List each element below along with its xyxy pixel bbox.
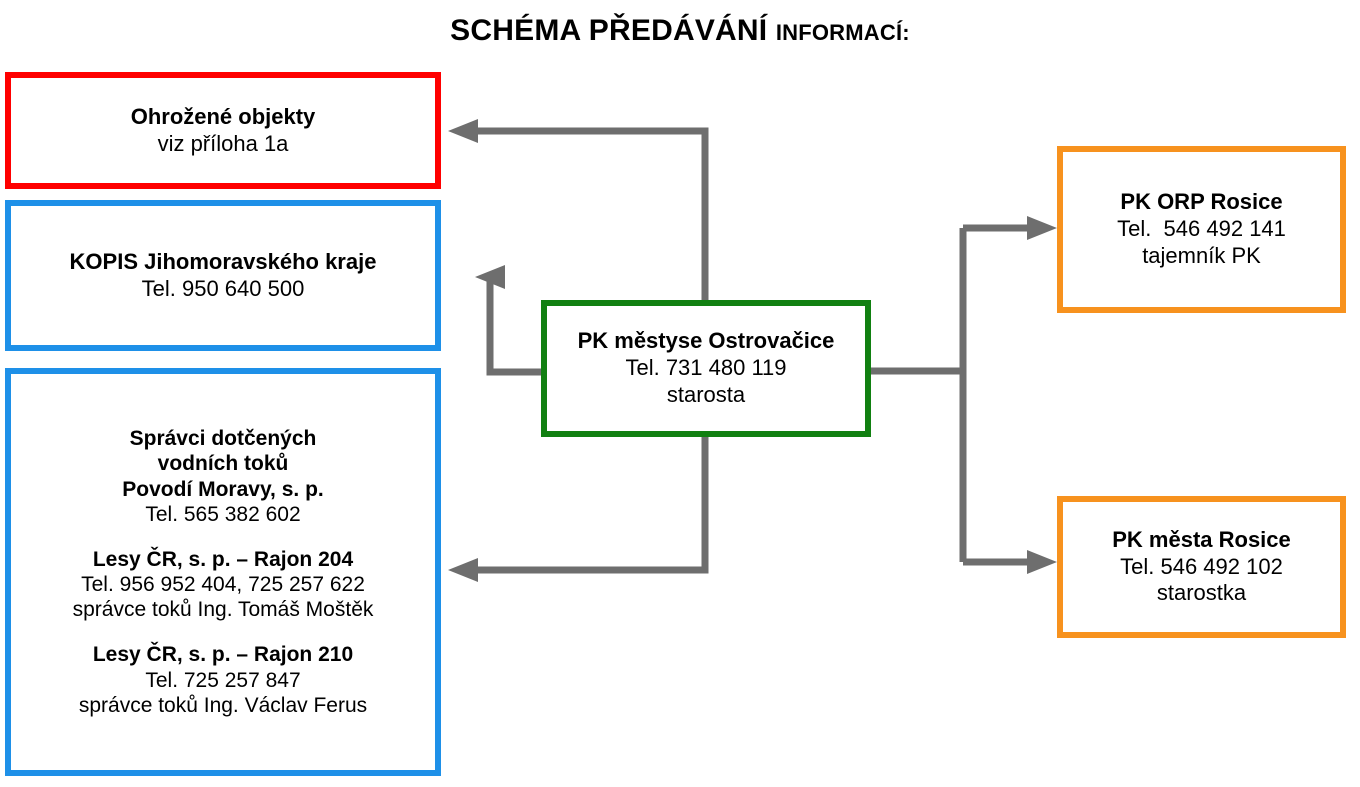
node-line: PK městyse Ostrovačice — [578, 328, 835, 355]
node-pk-orp-rosice[interactable]: PK ORP Rosice Tel. 546 492 141 tajemník … — [1057, 146, 1346, 313]
node-line: Tel. 546 492 141 — [1117, 216, 1286, 243]
connector-to-ohrozene-objekty — [448, 119, 705, 300]
connector-to-spravci-toku — [448, 437, 705, 582]
node-line: Tel. 546 492 102 — [1120, 554, 1283, 581]
node-line: PK města Rosice — [1112, 527, 1291, 554]
node-line: Lesy ČR, s. p. – Rajon 210 — [93, 642, 353, 667]
page-title: SCHÉMA PŘEDÁVÁNÍ INFORMACÍ: — [0, 14, 1360, 48]
node-line: tajemník PK — [1142, 243, 1261, 270]
connector-to-orange-boxes — [871, 216, 1057, 574]
node-spravci-dotcenych-vodnich-toku[interactable]: Správci dotčených vodních toků Povodí Mo… — [5, 368, 441, 776]
node-pk-mesta-rosice[interactable]: PK města Rosice Tel. 546 492 102 starost… — [1057, 496, 1346, 638]
node-line: Tel. 950 640 500 — [142, 276, 305, 303]
node-line: Tel. 725 257 847 — [145, 668, 300, 693]
diagram-canvas: SCHÉMA PŘEDÁVÁNÍ INFORMACÍ: — [0, 0, 1360, 787]
node-line: správce toků Ing. Tomáš Moštěk — [73, 597, 374, 622]
node-line: Lesy ČR, s. p. – Rajon 204 — [93, 547, 353, 572]
connector-to-kopis — [475, 265, 541, 372]
node-line: Správci dotčených — [130, 426, 317, 451]
node-line: PK ORP Rosice — [1120, 189, 1282, 216]
node-line: viz příloha 1a — [158, 131, 289, 158]
node-ohrozene-objekty[interactable]: Ohrožené objekty viz příloha 1a — [5, 72, 441, 189]
node-line: Tel. 731 480 119 — [625, 355, 786, 382]
node-line: vodních toků — [158, 451, 289, 476]
node-line: Tel. 565 382 602 — [145, 502, 300, 527]
node-line: Ohrožené objekty — [131, 104, 316, 131]
node-line: Tel. 956 952 404, 725 257 622 — [81, 572, 365, 597]
node-pk-mestyse-ostrovacice[interactable]: PK městyse Ostrovačice Tel. 731 480 119 … — [541, 300, 871, 437]
node-line: starostka — [1157, 580, 1246, 607]
node-kopis-jihomoravskeho-kraje[interactable]: KOPIS Jihomoravského kraje Tel. 950 640 … — [5, 200, 441, 351]
node-line: správce toků Ing. Václav Ferus — [79, 693, 367, 718]
page-title-main: SCHÉMA PŘEDÁVÁNÍ — [450, 14, 776, 47]
page-title-sub: INFORMACÍ: — [776, 20, 910, 45]
node-line: KOPIS Jihomoravského kraje — [70, 249, 377, 276]
node-line: Povodí Moravy, s. p. — [122, 477, 324, 502]
node-line: starosta — [667, 382, 745, 409]
